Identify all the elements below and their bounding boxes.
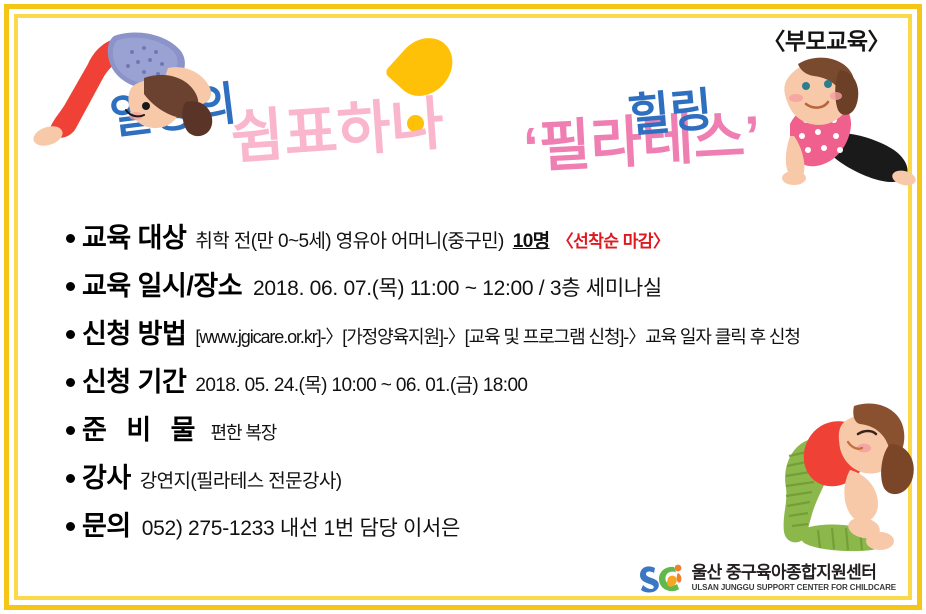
info-label-apply-period: 신청 기간	[82, 360, 186, 399]
logo-name-korean: 울산 중구육아종합지원센터	[692, 564, 896, 582]
info-row-apply-period: 신청 기간 2018. 05. 24.(목) 10:00 ~ 06. 01.(금…	[66, 360, 906, 399]
bullet-icon	[66, 522, 75, 531]
info-value-datetime-place: 2018. 06. 07.(목) 11:00 ~ 12:00 / 3층 세미나실	[253, 272, 662, 302]
info-row-target: 교육 대상 취학 전(만 0~5세) 영유아 어머니(중구민) 10명 〈선착순…	[66, 216, 906, 255]
info-value-contact: 052) 275-1233 내선 1번 담당 이서은	[142, 512, 460, 542]
woman-upward-dog-pose-illustration	[762, 50, 922, 200]
organization-logo: 울산 중구육아종합지원센터 ULSAN JUNGGU SUPPORT CENTE…	[638, 562, 896, 594]
info-value-preparation: 편한 복장	[211, 419, 277, 445]
info-label-contact: 문의	[82, 504, 131, 543]
info-label-target: 교육 대상	[82, 216, 186, 255]
info-row-apply-method: 신청 방법 [www.jgicare.or.kr]-〉[가정양육지원]-〉[교육…	[66, 312, 906, 351]
info-label-instructor: 강사	[82, 456, 131, 495]
bullet-icon	[66, 330, 75, 339]
info-value-target: 취학 전(만 0~5세) 영유아 어머니(중구민)	[195, 226, 503, 253]
woman-downward-dog-pose-illustration	[18, 6, 218, 156]
info-label-preparation: 준 비 물	[82, 408, 202, 447]
poster-header: 〈부모교육〉 일상의 쉼표하나 ‘필라테스’ 힐링	[0, 0, 926, 205]
bullet-icon	[66, 474, 75, 483]
info-value-apply-method: [www.jgicare.or.kr]-〉[가정양육지원]-〉[교육 및 프로그…	[195, 323, 799, 349]
info-note-first-come: 〈선착순 마감〉	[557, 227, 670, 252]
logo-text-block: 울산 중구육아종합지원센터 ULSAN JUNGGU SUPPORT CENTE…	[692, 564, 896, 592]
info-value-apply-period: 2018. 05. 24.(목) 10:00 ~ 06. 01.(금) 18:0…	[195, 370, 527, 397]
info-label-apply-method: 신청 방법	[82, 312, 186, 351]
info-value-instructor: 강연지(필라테스 전문강사)	[140, 466, 342, 493]
woman-camel-pose-illustration	[752, 396, 920, 558]
bullet-icon	[66, 282, 75, 291]
info-label-datetime-place: 교육 일시/장소	[82, 264, 242, 303]
bullet-icon	[66, 378, 75, 387]
bullet-icon	[66, 426, 75, 435]
info-row-datetime-place: 교육 일시/장소 2018. 06. 07.(목) 11:00 ~ 12:00 …	[66, 264, 906, 303]
logo-name-english: ULSAN JUNGGU SUPPORT CENTER FOR CHILDCAR…	[692, 583, 896, 593]
title-word-swimpyohana: 쉼표하나	[229, 95, 446, 168]
bullet-icon	[66, 234, 75, 243]
poster-canvas: 〈부모교육〉 일상의 쉼표하나 ‘필라테스’ 힐링	[0, 0, 926, 614]
sc-logo-mark-icon	[638, 562, 684, 594]
title-word-healing: 힐링	[626, 86, 714, 139]
info-emphasis-target: 10명	[513, 226, 550, 253]
